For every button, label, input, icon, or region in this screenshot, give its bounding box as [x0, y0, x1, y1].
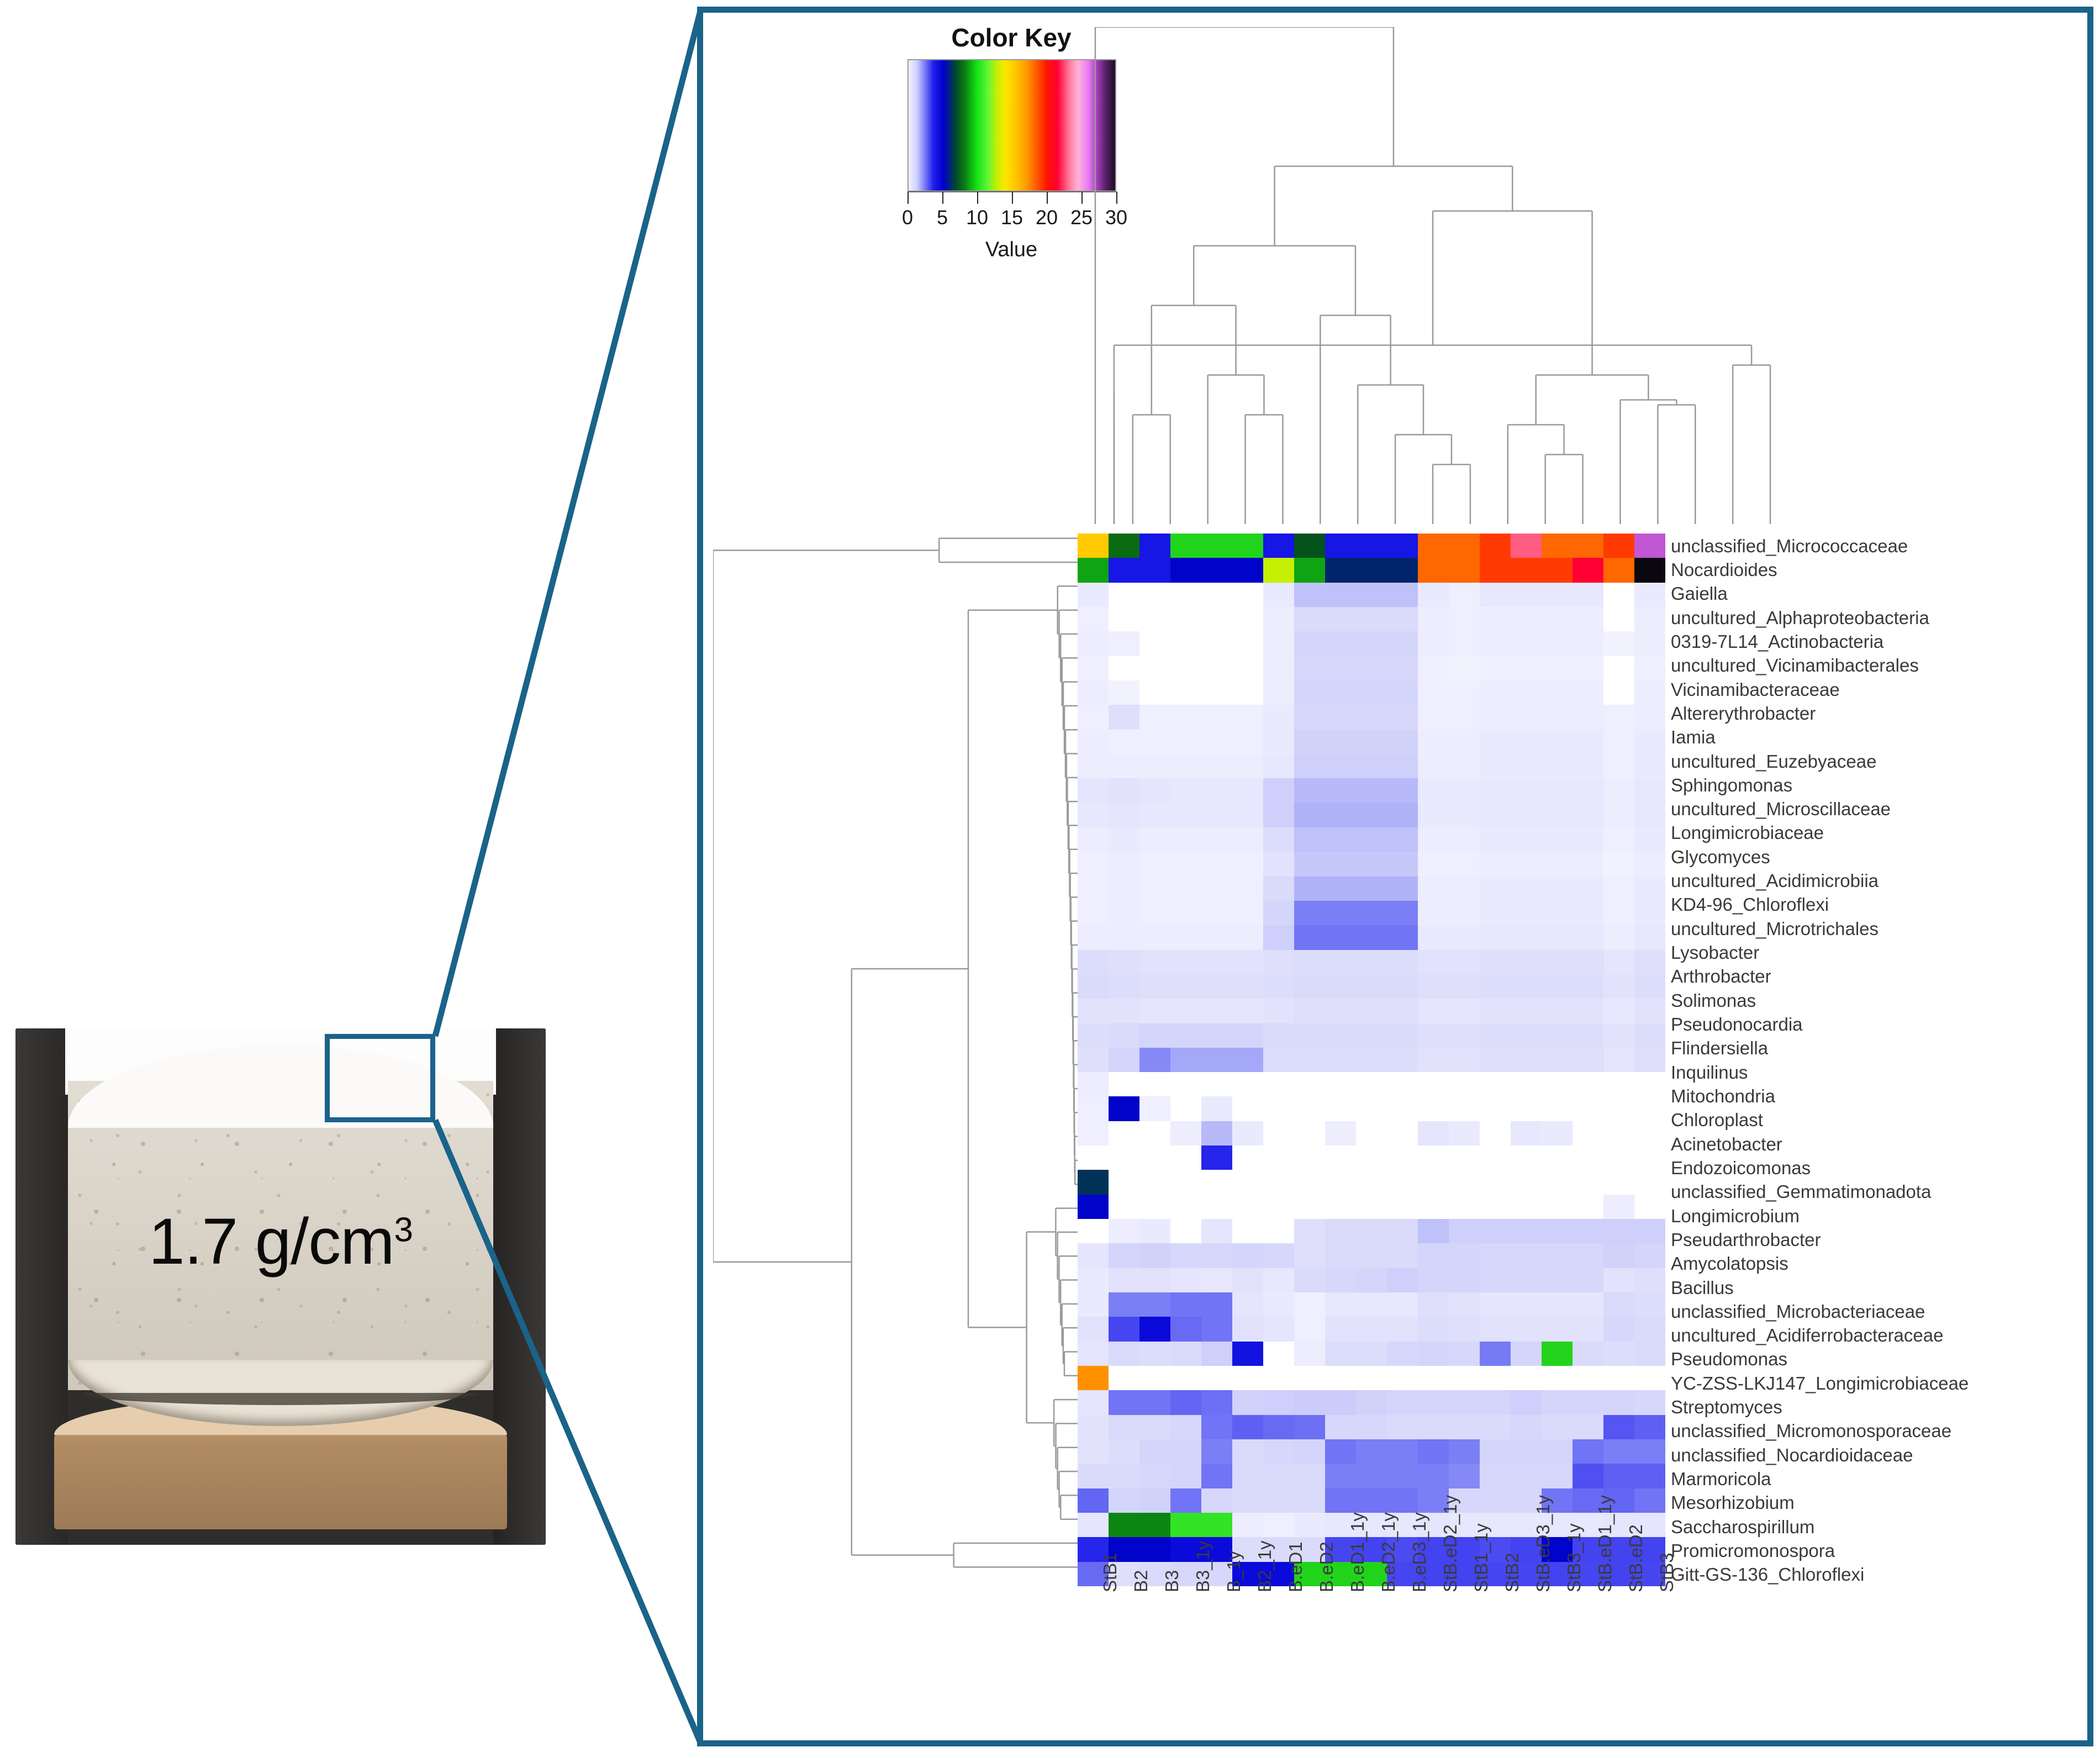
heatmap-cell [1139, 803, 1170, 827]
heatmap-cell [1634, 1464, 1665, 1488]
heatmap-cell [1387, 583, 1418, 607]
heatmap-cell [1232, 1170, 1263, 1194]
heatmap-cell [1449, 803, 1480, 827]
heatmap-cell [1542, 1366, 1573, 1390]
heatmap-cell [1387, 754, 1418, 778]
heatmap-cell [1263, 877, 1294, 901]
heatmap-cell [1356, 1072, 1387, 1096]
heatmap-cell [1170, 680, 1201, 705]
heatmap-cell [1109, 1096, 1139, 1121]
heatmap-cell [1078, 827, 1109, 852]
heatmap-cell [1573, 1121, 1603, 1145]
heatmap-cell [1109, 950, 1139, 974]
heatmap-cell [1294, 1292, 1325, 1317]
heatmap-row-label: Longimicrobium [1671, 1207, 1800, 1225]
heatmap-cell [1634, 1268, 1665, 1292]
heatmap-cell [1449, 877, 1480, 901]
heatmap-cell [1603, 1366, 1634, 1390]
heatmap-cell [1387, 999, 1418, 1023]
heatmap-cell [1139, 656, 1170, 680]
heatmap-cell [1356, 558, 1387, 582]
heatmap-cell [1634, 1390, 1665, 1414]
heatmap-cell [1480, 1366, 1511, 1390]
heatmap-cell [1201, 534, 1232, 558]
heatmap-cell [1634, 1415, 1665, 1439]
heatmap-cell [1356, 1145, 1387, 1170]
heatmap-cell [1511, 607, 1542, 631]
heatmap-cell [1232, 1292, 1263, 1317]
heatmap-cell [1573, 950, 1603, 974]
heatmap-cell [1542, 925, 1573, 949]
heatmap-cell [1356, 901, 1387, 925]
heatmap-cell [1418, 1415, 1449, 1439]
heatmap-cell [1480, 680, 1511, 705]
heatmap-column-label: StB.eD1_1y [1595, 1495, 1616, 1592]
heatmap-cell [1139, 705, 1170, 729]
heatmap-cell [1480, 730, 1511, 754]
heatmap-cell [1418, 974, 1449, 999]
heatmap-cell [1511, 1268, 1542, 1292]
heatmap-cell [1511, 852, 1542, 876]
heatmap-cell [1294, 1513, 1325, 1537]
heatmap-cell [1170, 827, 1201, 852]
heatmap-cell [1418, 1145, 1449, 1170]
heatmap-cell [1170, 1342, 1201, 1366]
heatmap-cell [1603, 974, 1634, 999]
heatmap-cell [1325, 1464, 1356, 1488]
heatmap-cell [1109, 925, 1139, 949]
heatmap-cell [1603, 1243, 1634, 1268]
heatmap-cell [1387, 901, 1418, 925]
heatmap-cell [1170, 1023, 1201, 1048]
heatmap-cell [1170, 1170, 1201, 1194]
heatmap-cell [1480, 901, 1511, 925]
heatmap-cell [1139, 631, 1170, 656]
heatmap-cell [1325, 974, 1356, 999]
heatmap-cell [1139, 1390, 1170, 1414]
heatmap-cell [1418, 754, 1449, 778]
heatmap-cell [1201, 803, 1232, 827]
heatmap-cell [1170, 1096, 1201, 1121]
heatmap-row-label: Pseudarthrobacter [1671, 1231, 1821, 1249]
heatmap-cell [1109, 680, 1139, 705]
heatmap-cell [1078, 852, 1109, 876]
heatmap-cell [1449, 925, 1480, 949]
heatmap-cell [1634, 1439, 1665, 1464]
heatmap-cell [1294, 1145, 1325, 1170]
heatmap-cell [1356, 803, 1387, 827]
heatmap-cell [1511, 1439, 1542, 1464]
heatmap-cell [1418, 1243, 1449, 1268]
heatmap-cell [1078, 1072, 1109, 1096]
heatmap-cell [1139, 1537, 1170, 1561]
heatmap-cell [1603, 607, 1634, 631]
heatmap-cell [1418, 1366, 1449, 1390]
heatmap-cell [1109, 1366, 1139, 1390]
heatmap-cell [1294, 558, 1325, 582]
heatmap-cell [1511, 827, 1542, 852]
heatmap-cell [1109, 1170, 1139, 1194]
heatmap-cell [1603, 778, 1634, 803]
heatmap-cell [1294, 852, 1325, 876]
heatmap-row-label: uncultured_Microtrichales [1671, 920, 1879, 938]
heatmap-cell [1418, 1464, 1449, 1488]
heatmap-cell [1232, 607, 1263, 631]
heatmap-cell [1542, 607, 1573, 631]
heatmap-row-label: Gitt-GS-136_Chloroflexi [1671, 1565, 1864, 1583]
heatmap-cell [1232, 1488, 1263, 1513]
heatmap-cell [1449, 1096, 1480, 1121]
heatmap-cell [1418, 1219, 1449, 1243]
heatmap-cell [1201, 1121, 1232, 1145]
heatmap-cell [1325, 877, 1356, 901]
heatmap-cell [1109, 1195, 1139, 1219]
heatmap-cell [1109, 1145, 1139, 1170]
heatmap-cell [1078, 558, 1109, 582]
heatmap-cell [1573, 925, 1603, 949]
heatmap-cell [1170, 1145, 1201, 1170]
heatmap-cell [1418, 607, 1449, 631]
heatmap-cell [1263, 1268, 1294, 1292]
heatmap-cell [1232, 1048, 1263, 1072]
heatmap-cell [1480, 1464, 1511, 1488]
heatmap-row-label: Promicromonospora [1671, 1541, 1835, 1560]
heatmap-row-label: Pseudomonas [1671, 1350, 1787, 1368]
heatmap-row-label: 0319-7L14_Actinobacteria [1671, 632, 1883, 651]
density-label: 1.7 g/cm3 [15, 1204, 546, 1279]
heatmap-cell [1542, 1464, 1573, 1488]
heatmap-cell [1573, 631, 1603, 656]
heatmap-cell [1232, 852, 1263, 876]
heatmap-cell [1201, 1023, 1232, 1048]
density-exponent: 3 [394, 1211, 413, 1249]
heatmap-cell [1511, 1096, 1542, 1121]
heatmap-cell [1449, 583, 1480, 607]
heatmap-cell [1387, 1048, 1418, 1072]
heatmap-cell [1387, 607, 1418, 631]
heatmap-cell [1263, 1072, 1294, 1096]
heatmap-cell [1078, 680, 1109, 705]
heatmap-cell [1201, 999, 1232, 1023]
heatmap-cell [1232, 925, 1263, 949]
heatmap-cell [1109, 901, 1139, 925]
heatmap-cell [1449, 1439, 1480, 1464]
heatmap-cell [1201, 1048, 1232, 1072]
heatmap-cell [1573, 754, 1603, 778]
heatmap-cell [1480, 950, 1511, 974]
heatmap-cell [1603, 1292, 1634, 1317]
heatmap-cell [1542, 583, 1573, 607]
heatmap-cell [1387, 1072, 1418, 1096]
heatmap-cell [1139, 1415, 1170, 1439]
heatmap-cell [1449, 705, 1480, 729]
heatmap-cell [1325, 1488, 1356, 1513]
heatmap-cell [1511, 1121, 1542, 1145]
heatmap-cell [1634, 705, 1665, 729]
heatmap-cell [1542, 1121, 1573, 1145]
heatmap-cell [1294, 1268, 1325, 1292]
heatmap-cell [1387, 950, 1418, 974]
heatmap-cell [1542, 1023, 1573, 1048]
heatmap-cell [1603, 877, 1634, 901]
heatmap-cell [1170, 1243, 1201, 1268]
heatmap-cell [1511, 705, 1542, 729]
heatmap-cell [1294, 730, 1325, 754]
heatmap-cell [1634, 1317, 1665, 1341]
heatmap-cell [1387, 1342, 1418, 1366]
heatmap-cell [1109, 1415, 1139, 1439]
heatmap-cell [1170, 1292, 1201, 1317]
heatmap-cell [1263, 1145, 1294, 1170]
heatmap-cell [1356, 1390, 1387, 1414]
heatmap-cell [1449, 1121, 1480, 1145]
heatmap-column-label: B_1y [1223, 1551, 1244, 1592]
heatmap-cell [1449, 950, 1480, 974]
heatmap-cell [1356, 778, 1387, 803]
heatmap-cell [1387, 558, 1418, 582]
heatmap-cell [1542, 827, 1573, 852]
heatmap-cell [1139, 1268, 1170, 1292]
heatmap-cell [1603, 1145, 1634, 1170]
heatmap-cell [1325, 1170, 1356, 1194]
heatmap-cell [1542, 1317, 1573, 1341]
heatmap-cell [1418, 705, 1449, 729]
heatmap-cell [1480, 1072, 1511, 1096]
heatmap-cell [1263, 656, 1294, 680]
heatmap-cell [1109, 852, 1139, 876]
heatmap-cell [1109, 1268, 1139, 1292]
heatmap-row-label: Arthrobacter [1671, 967, 1771, 985]
heatmap-cell [1109, 803, 1139, 827]
heatmap-cell [1232, 1390, 1263, 1414]
heatmap-row-label: Endozoicomonas [1671, 1159, 1811, 1177]
heatmap-cell [1232, 1366, 1263, 1390]
zoom-callout-box [325, 1034, 435, 1122]
heatmap-cell [1109, 1464, 1139, 1488]
heatmap-cell [1387, 1243, 1418, 1268]
heatmap-cell [1232, 1513, 1263, 1537]
heatmap-cell [1387, 656, 1418, 680]
heatmap-cell [1170, 974, 1201, 999]
heatmap-cell [1325, 558, 1356, 582]
heatmap-cell [1078, 1390, 1109, 1414]
heatmap-cell [1201, 925, 1232, 949]
heatmap-cell [1325, 583, 1356, 607]
heatmap-cell [1418, 1390, 1449, 1414]
heatmap-cell [1603, 1390, 1634, 1414]
heatmap-cell [1634, 607, 1665, 631]
heatmap-cell [1263, 1121, 1294, 1145]
heatmap-row-label: unclassified_Micrococcaceae [1671, 537, 1908, 555]
heatmap-cell [1232, 1096, 1263, 1121]
heatmap-cell [1078, 1513, 1109, 1537]
heatmap-cell [1325, 1342, 1356, 1366]
heatmap-row-label: Solimonas [1671, 991, 1756, 1010]
heatmap-cell [1387, 1096, 1418, 1121]
heatmap-cell [1634, 1145, 1665, 1170]
heatmap-cell [1511, 1195, 1542, 1219]
heatmap-cell [1078, 1243, 1109, 1268]
heatmap-cell [1201, 1268, 1232, 1292]
heatmap-cell [1078, 754, 1109, 778]
heatmap-cell [1201, 1464, 1232, 1488]
heatmap-cell [1294, 1342, 1325, 1366]
heatmap-cell [1542, 803, 1573, 827]
heatmap-cell [1170, 1488, 1201, 1513]
heatmap-cell [1511, 1023, 1542, 1048]
heatmap-cell [1387, 1317, 1418, 1341]
heatmap-cell [1139, 999, 1170, 1023]
heatmap-cell [1511, 974, 1542, 999]
heatmap-column-label: StB.eD2 [1626, 1524, 1647, 1592]
heatmap-cell [1201, 754, 1232, 778]
heatmap-cell [1294, 1243, 1325, 1268]
heatmap-cell [1542, 877, 1573, 901]
heatmap-cell [1634, 631, 1665, 656]
heatmap-row-label: Gaiella [1671, 584, 1728, 603]
heatmap-cell [1387, 1145, 1418, 1170]
heatmap-cell [1078, 607, 1109, 631]
heatmap-cell [1542, 1342, 1573, 1366]
heatmap-cell [1139, 1121, 1170, 1145]
heatmap-cell [1449, 827, 1480, 852]
heatmap-cell [1449, 680, 1480, 705]
heatmap-cell [1325, 925, 1356, 949]
heatmap-cell [1418, 1342, 1449, 1366]
heatmap-cell [1109, 1219, 1139, 1243]
heatmap-cell [1542, 999, 1573, 1023]
heatmap-cell [1480, 999, 1511, 1023]
heatmap-cell [1573, 558, 1603, 582]
heatmap-cell [1603, 1439, 1634, 1464]
heatmap-cell [1480, 803, 1511, 827]
heatmap-column-label: StB.eD2_1y [1440, 1495, 1461, 1592]
heatmap-cell [1325, 803, 1356, 827]
heatmap-cell [1480, 1145, 1511, 1170]
heatmap-cell [1232, 1268, 1263, 1292]
heatmap-cell [1603, 1317, 1634, 1341]
heatmap-cell [1573, 1390, 1603, 1414]
heatmap-cell [1480, 827, 1511, 852]
heatmap-cell [1325, 607, 1356, 631]
heatmap-cell [1263, 1464, 1294, 1488]
heatmap-cell [1201, 1488, 1232, 1513]
heatmap-cell [1078, 631, 1109, 656]
heatmap-cell [1634, 1292, 1665, 1317]
heatmap-cell [1573, 827, 1603, 852]
heatmap-cell [1201, 778, 1232, 803]
heatmap-cell [1387, 1170, 1418, 1194]
heatmap-cell [1418, 1121, 1449, 1145]
heatmap-cell [1294, 705, 1325, 729]
heatmap-cell [1387, 974, 1418, 999]
heatmap-cell [1603, 1121, 1634, 1145]
heatmap-column-labels: StB1B2B3B3_1yB_1yB2_1yB.eD1B.eD2B.eD1_1y… [1078, 1592, 1665, 1758]
heatmap-cell [1449, 1292, 1480, 1317]
heatmap-cell [1603, 827, 1634, 852]
heatmap-cell [1201, 1513, 1232, 1537]
heatmap-cell [1573, 803, 1603, 827]
heatmap-cell [1139, 1072, 1170, 1096]
heatmap-cell [1232, 558, 1263, 582]
heatmap-cell [1139, 1023, 1170, 1048]
heatmap-cell [1078, 901, 1109, 925]
heatmap-cell [1109, 1292, 1139, 1317]
heatmap-cell [1201, 730, 1232, 754]
heatmap-cell [1542, 852, 1573, 876]
heatmap-cell [1573, 778, 1603, 803]
heatmap-cell [1387, 1366, 1418, 1390]
heatmap-cell [1139, 950, 1170, 974]
heatmap-cell [1170, 803, 1201, 827]
heatmap-cell [1573, 534, 1603, 558]
heatmap-cell [1480, 583, 1511, 607]
heatmap-cell [1449, 534, 1480, 558]
heatmap-cell [1356, 950, 1387, 974]
heatmap-cell [1356, 754, 1387, 778]
heatmap-row-label: Marmoricola [1671, 1470, 1771, 1488]
heatmap-cell [1356, 680, 1387, 705]
heatmap-cell [1170, 852, 1201, 876]
heatmap-cell [1418, 803, 1449, 827]
heatmap-cell [1449, 901, 1480, 925]
heatmap-cell [1480, 558, 1511, 582]
heatmap-cell [1201, 877, 1232, 901]
heatmap-cell [1170, 754, 1201, 778]
heatmap-cell [1109, 999, 1139, 1023]
heatmap-cell [1139, 925, 1170, 949]
heatmap-cell [1387, 1268, 1418, 1292]
heatmap-cell [1232, 680, 1263, 705]
heatmap-cell [1263, 1366, 1294, 1390]
heatmap-cell [1325, 656, 1356, 680]
heatmap-cell [1603, 1195, 1634, 1219]
heatmap-cell [1387, 1439, 1418, 1464]
heatmap-cell [1109, 534, 1139, 558]
heatmap-cell [1573, 1023, 1603, 1048]
heatmap-cell [1449, 1366, 1480, 1390]
heatmap-cell [1542, 1439, 1573, 1464]
heatmap-cell [1139, 607, 1170, 631]
heatmap-cell [1387, 1121, 1418, 1145]
heatmap-cell [1325, 1366, 1356, 1390]
heatmap-cell [1356, 730, 1387, 754]
heatmap-row-label: Amycolatopsis [1671, 1254, 1788, 1273]
heatmap-cell [1449, 1219, 1480, 1243]
heatmap-cell [1387, 852, 1418, 876]
heatmap-cell [1511, 1342, 1542, 1366]
heatmap-cell [1511, 631, 1542, 656]
heatmap-cell [1573, 1170, 1603, 1194]
heatmap-cell [1511, 877, 1542, 901]
heatmap-cell [1232, 803, 1263, 827]
heatmap-cell [1387, 1219, 1418, 1243]
heatmap-cell [1201, 1292, 1232, 1317]
heatmap-cell [1542, 558, 1573, 582]
heatmap-cell [1232, 1121, 1263, 1145]
heatmap-cell [1232, 1195, 1263, 1219]
heatmap-cell [1480, 754, 1511, 778]
heatmap-cell [1480, 1121, 1511, 1145]
heatmap-cell [1232, 534, 1263, 558]
heatmap-cell [1325, 754, 1356, 778]
heatmap-cell [1511, 999, 1542, 1023]
heatmap-cell [1356, 1121, 1387, 1145]
heatmap-cell [1418, 778, 1449, 803]
heatmap-cell [1294, 974, 1325, 999]
heatmap-cell [1325, 534, 1356, 558]
heatmap-cell [1263, 730, 1294, 754]
